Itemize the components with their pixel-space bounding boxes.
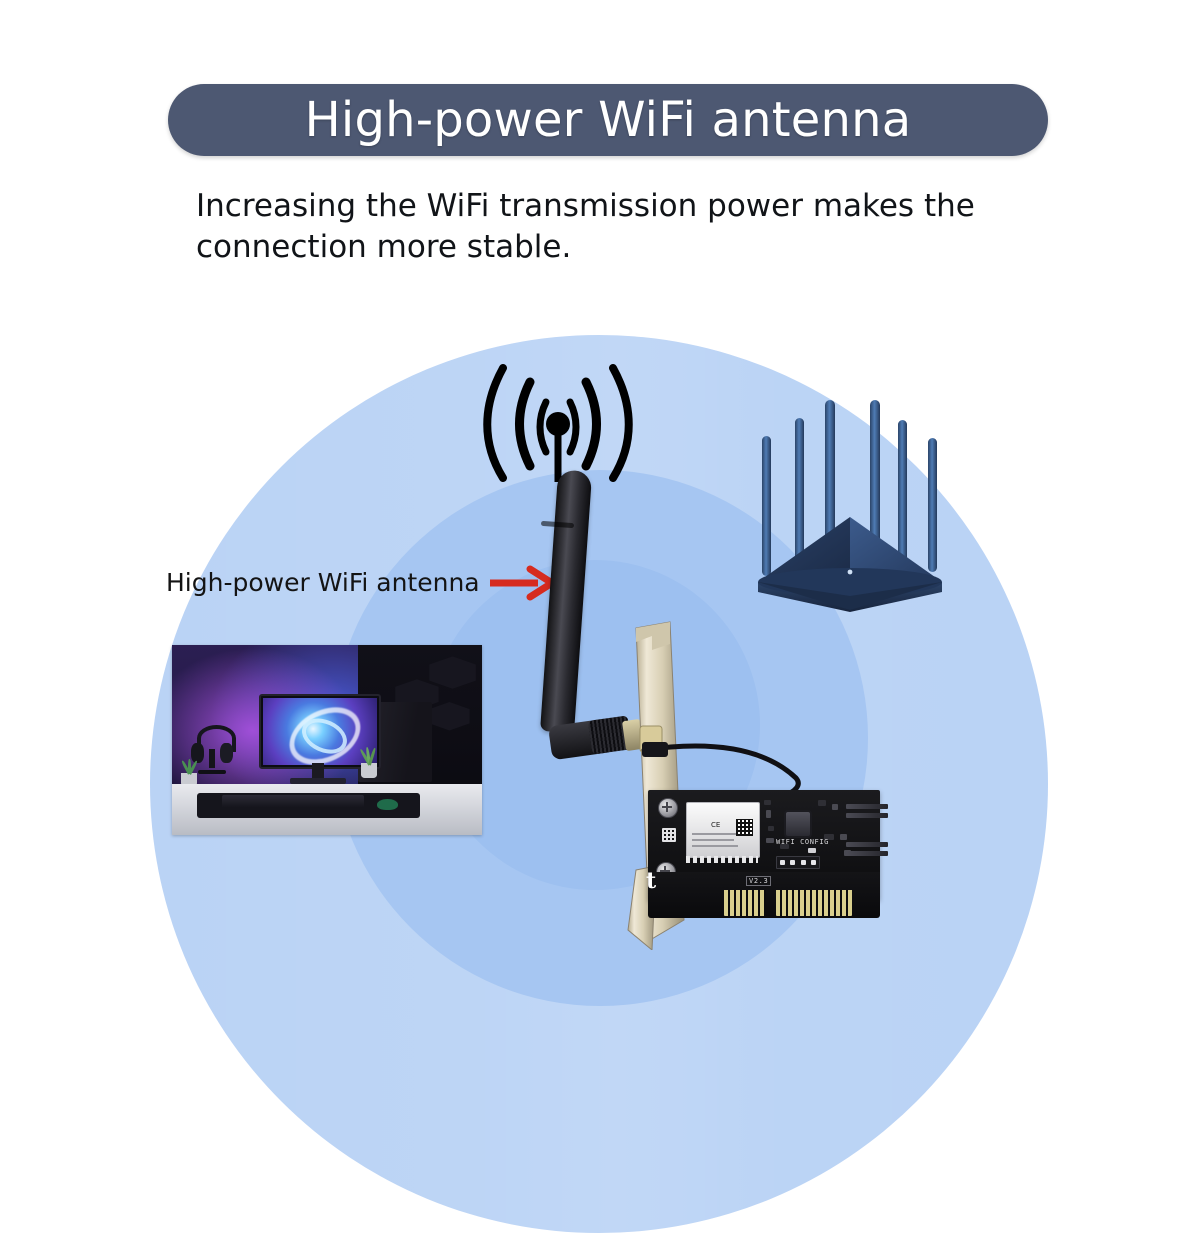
- wifi-router-icon: [740, 382, 1010, 632]
- page-subtitle: Increasing the WiFi transmission power m…: [196, 186, 1076, 268]
- photo-plant-pot: [361, 763, 377, 778]
- page-title-banner: High-power WiFi antenna: [168, 84, 1048, 156]
- pcie-gold-fingers: [724, 890, 766, 916]
- photo-plant: [358, 750, 380, 779]
- antenna-callout-label: High-power WiFi antenna: [166, 568, 480, 597]
- infographic-canvas: High-power WiFi antenna Increasing the W…: [0, 0, 1200, 1200]
- photo-headset-earcup: [220, 743, 233, 764]
- pin-header-4pin[interactable]: [776, 856, 820, 869]
- reset-button-switch[interactable]: [784, 810, 812, 838]
- pcie-card-edge-tab: V2.3 t: [648, 872, 880, 918]
- pin-header-right-top[interactable]: [846, 804, 892, 820]
- photo-headset-post: [209, 749, 215, 769]
- photo-plant: [178, 761, 200, 786]
- desk-setup-photo: [172, 645, 482, 835]
- wifi-module: CE: [686, 802, 760, 858]
- antenna-rod: [540, 469, 592, 733]
- photo-keyboard: [222, 795, 365, 808]
- silkscreen-config-label: WIFI CONFIG: [776, 838, 829, 846]
- wifi-signal-icon: [458, 352, 658, 482]
- pin-header-right-bottom[interactable]: [846, 842, 892, 858]
- board-revision-label: V2.3: [746, 876, 771, 886]
- photo-headset-foot: [198, 770, 226, 774]
- module-qr-code: [736, 819, 753, 836]
- photo-mouse: [377, 799, 399, 810]
- page-title: High-power WiFi antenna: [305, 96, 912, 144]
- bracket-screw: [658, 798, 678, 818]
- module-solder-pads: [686, 856, 758, 863]
- ce-mark-label: CE: [711, 821, 720, 829]
- brand-logo-icon: t: [646, 870, 680, 898]
- pcie-gold-fingers: [776, 890, 852, 916]
- board-qr-code: [662, 828, 676, 842]
- antenna-tip-ring: [541, 521, 574, 528]
